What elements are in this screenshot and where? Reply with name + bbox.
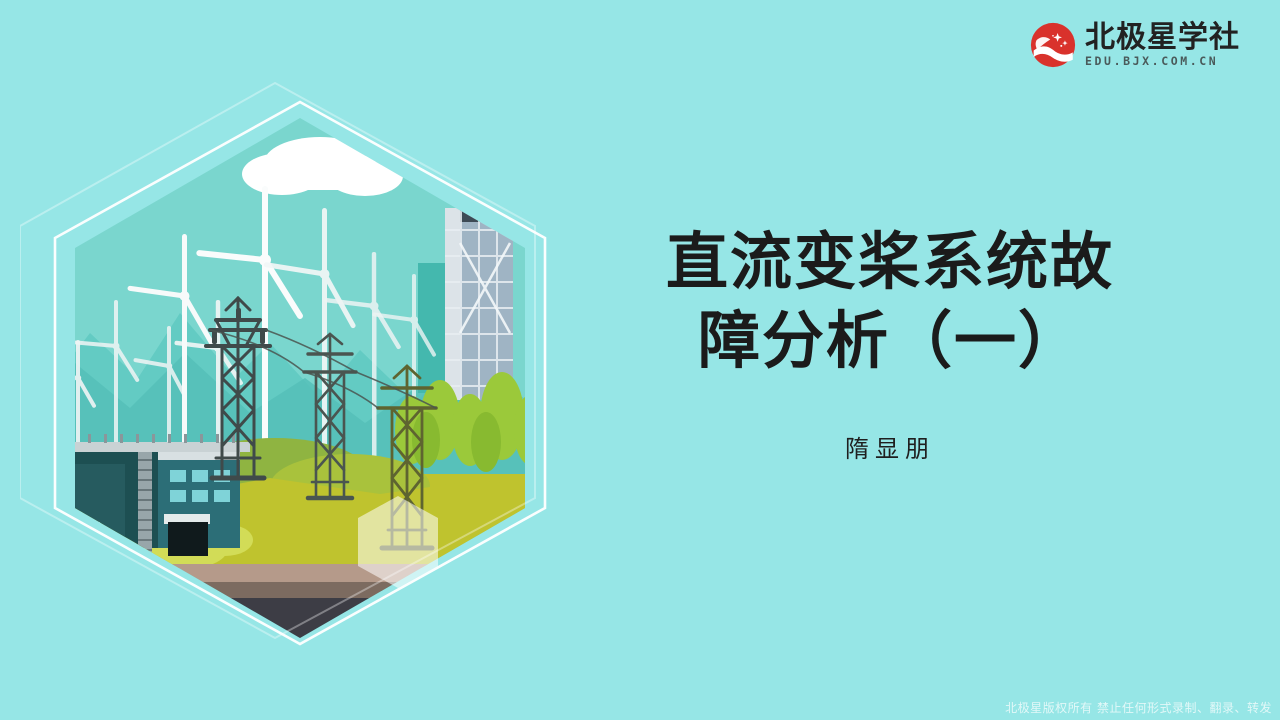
soil-tan: [20, 564, 580, 582]
logo-text: 北极星学社 EDU.BJX.COM.CN: [1085, 23, 1240, 68]
plant-vent: [44, 430, 54, 438]
soil-brown: [20, 582, 580, 598]
teal-building-light: [418, 263, 448, 393]
author-name: 隋显朋: [600, 429, 1180, 464]
hexagon-scene: [20, 78, 580, 648]
soil-dark: [20, 598, 580, 644]
plant-door: [168, 522, 208, 556]
presentation-slide: 北极星学社 EDU.BJX.COM.CN 直流变桨系统故 障分析（一） 隋显朋 …: [0, 0, 1280, 720]
polar-star-book-icon: [1030, 22, 1076, 68]
logo-url: EDU.BJX.COM.CN: [1085, 56, 1240, 68]
brand-logo[interactable]: 北极星学社 EDU.BJX.COM.CN: [1030, 22, 1240, 68]
energy-illustration: [20, 78, 580, 648]
copyright-watermark: 北极星版权所有 禁止任何形式录制、翻录、转发: [1005, 699, 1272, 716]
title-block: 直流变桨系统故 障分析（一） 隋显朋: [600, 222, 1180, 464]
skyscraper: [445, 208, 513, 400]
logo-brand-name: 北极星学社: [1085, 23, 1240, 53]
page-title: 直流变桨系统故 障分析（一）: [600, 222, 1180, 381]
cloud-small: [82, 160, 148, 192]
power-plant-building: [44, 430, 250, 558]
